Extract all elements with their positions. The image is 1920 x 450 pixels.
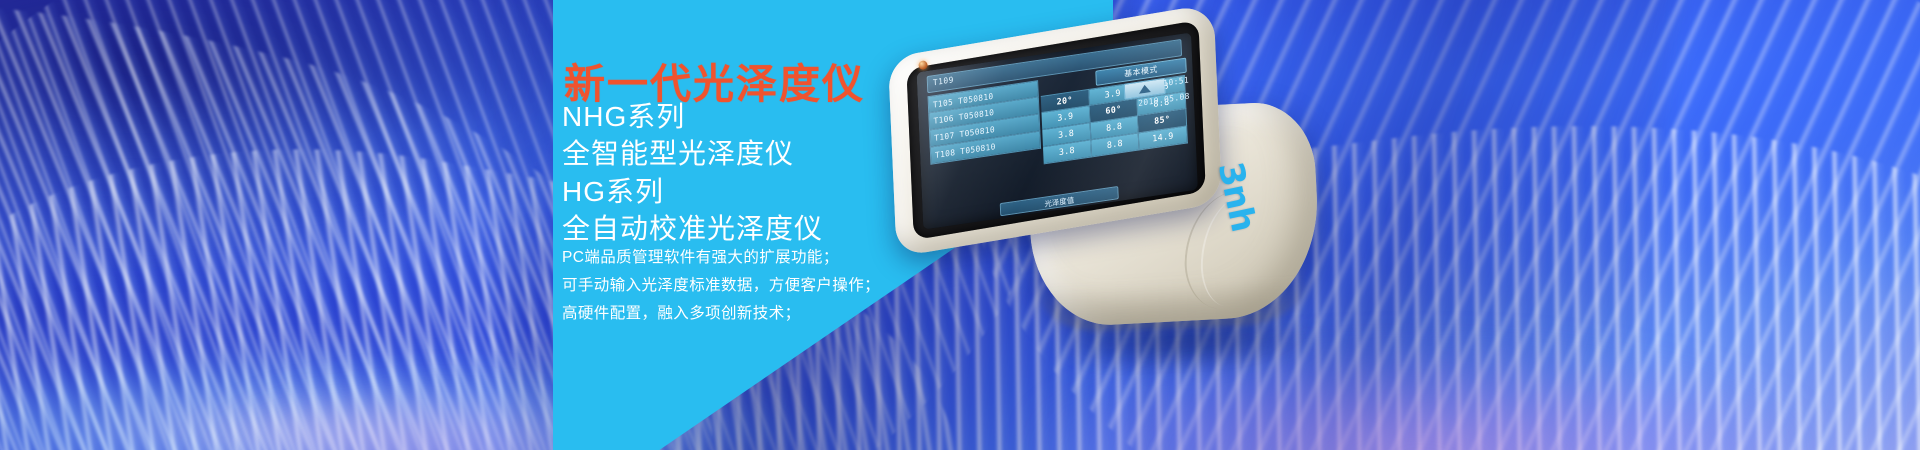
description-line-2: 可手动输入光泽度标准数据，方便客户操作； bbox=[562, 273, 880, 295]
readings-grid: 20° 3.9 8.8 3.9 60° 8.8 3.8 8.8 85° bbox=[1041, 75, 1188, 164]
product-banner: 新一代光泽度仪 NHG系列 全智能型光泽度仪 HG系列 全自动校准光泽度仪 PC… bbox=[0, 0, 1920, 450]
sample-list[interactable]: T105 T050810 T106 T050810 T107 T050810 T… bbox=[928, 80, 1042, 165]
subtitle-line-2: 全智能型光泽度仪 bbox=[562, 132, 794, 172]
device-body: T109 T105 T050810 T106 T050810 T107 T050… bbox=[862, 3, 1317, 405]
description-line-3: 高硬件配置，融入多项创新技术； bbox=[562, 301, 801, 323]
mode-label: 基本模式 bbox=[1124, 64, 1158, 80]
subtitle-line-3: HG系列 bbox=[562, 170, 664, 210]
screen-header-label: T109 bbox=[933, 75, 954, 87]
description-line-1: PC端品质管理软件有强大的扩展功能； bbox=[562, 245, 839, 267]
screen-footer-label: 光泽度值 bbox=[1044, 194, 1074, 209]
gloss-meter-device: T109 T105 T050810 T106 T050810 T107 T050… bbox=[880, 24, 1300, 384]
subtitle-line-4: 全自动校准光泽度仪 bbox=[562, 207, 823, 247]
subtitle-line-1: NHG系列 bbox=[562, 95, 685, 135]
